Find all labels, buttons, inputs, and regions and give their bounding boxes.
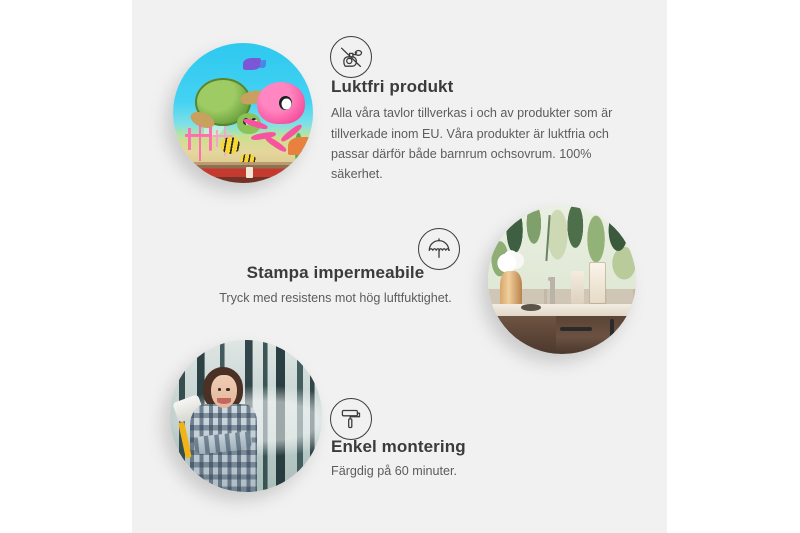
purple-fish xyxy=(243,58,261,69)
toiletry-bottle xyxy=(589,262,607,303)
woman-smile xyxy=(217,398,231,404)
wooden-vanity-cabinet xyxy=(553,316,636,354)
feature-water-resistant: Stampa impermeabile Tryck med resistens … xyxy=(188,262,483,309)
infographic-canvas: Luktfri produkt Alla våra tavlor tillver… xyxy=(0,0,800,533)
decorator-forest-mural-image xyxy=(170,340,322,492)
feature-easy-mounting: Enkel montering Färgdig på 60 minuter. xyxy=(331,436,621,482)
striped-fish xyxy=(221,137,241,154)
feature-body: Tryck med resistens mot hög luftfuktighe… xyxy=(188,288,483,308)
feature-body: Alla våra tavlor tillverkas i och av pro… xyxy=(331,103,631,185)
toiletry-bottle xyxy=(571,271,584,304)
underwater-cartoon-mural-image xyxy=(173,43,313,183)
starfish xyxy=(288,137,312,155)
bathroom-tropical-leaf-mural-image xyxy=(488,206,636,354)
no-perfume-icon xyxy=(330,36,372,78)
feature-body: Färgdig på 60 minuter. xyxy=(331,461,621,481)
feature-title: Luktfri produkt xyxy=(331,76,631,97)
vanity-drawer xyxy=(488,316,556,354)
soap-dish xyxy=(521,304,542,311)
mural-bottom-reflection xyxy=(173,162,313,183)
leaf-vein xyxy=(546,215,551,261)
feature-title: Stampa impermeabile xyxy=(188,262,483,283)
feature-odour-free: Luktfri produkt Alla våra tavlor tillver… xyxy=(331,76,631,185)
faucet xyxy=(550,277,554,304)
paint-roller-icon xyxy=(330,398,372,440)
feature-title: Enkel montering xyxy=(331,436,621,457)
